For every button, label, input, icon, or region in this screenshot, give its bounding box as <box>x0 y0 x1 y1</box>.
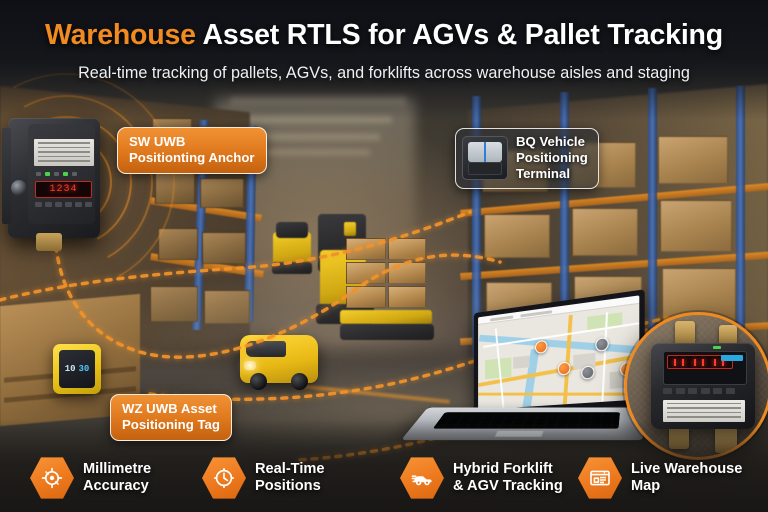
forklift-rear-cage <box>276 222 308 238</box>
feature-badge-bar: Millimetre Accuracy Real-Time Positions <box>0 450 768 506</box>
feature-hybrid-forklift-agv[interactable]: Hybrid Forklift & AGV Tracking <box>400 456 563 500</box>
callout-anchor-line1: SW UWB <box>129 134 255 150</box>
terminal-keypad[interactable] <box>663 388 735 394</box>
callout-asset-tag[interactable]: WZ UWB Asset Positioning Tag <box>110 394 232 441</box>
page-title: Warehouse Asset RTLS for AGVs & Pallet T… <box>0 19 768 52</box>
anchor-status-leds <box>36 172 77 176</box>
feature-label: Real-Time Positions <box>255 461 324 496</box>
feature-label: Live Warehouse Map <box>631 461 742 496</box>
laptop-screen-map[interactable] <box>478 295 639 410</box>
laptop-lid <box>474 289 645 415</box>
callout-vehicle-terminal[interactable]: BQ Vehicle Positioning Terminal <box>455 128 599 189</box>
anchor-label-plate <box>34 139 94 166</box>
pallet-crate <box>346 286 386 308</box>
tag-value-left: 10 <box>65 364 76 374</box>
agv-window <box>246 341 286 357</box>
agv-wheel <box>250 373 267 390</box>
callout-terminal-line3: Terminal <box>516 166 588 182</box>
pallet-crate <box>388 262 426 284</box>
terminal-power-led <box>713 346 721 349</box>
callout-terminal-line1: BQ Vehicle <box>516 134 588 150</box>
anchor-buttons[interactable] <box>35 202 92 207</box>
agv-headlight <box>244 361 256 370</box>
callout-tag-line1: WZ UWB Asset <box>122 401 220 417</box>
tag-value-right: 30 <box>79 364 90 374</box>
anchor-mount-bracket <box>2 128 11 224</box>
feature-real-time-positions[interactable]: Real-Time Positions <box>202 456 324 500</box>
tag-display: 10 30 <box>59 350 95 388</box>
forklift-beacon <box>344 222 356 236</box>
pallet-crate <box>346 238 386 260</box>
terminal-panel <box>663 351 747 385</box>
anchor-cable-gland <box>36 233 62 251</box>
callout-terminal-text: BQ Vehicle Positioning Terminal <box>516 134 588 182</box>
terminal-blue-indicator <box>721 355 743 361</box>
callout-tag-line2: Positioning Tag <box>122 417 220 433</box>
top-gradient-overlay <box>0 0 768 120</box>
callout-terminal-line2: Positioning <box>516 150 588 166</box>
forklift-vehicle-icon <box>400 456 444 500</box>
vehicle-terminal-thumb-icon <box>462 136 508 180</box>
uwb-positioning-anchor-device: 1234 <box>8 118 100 238</box>
agv-robot <box>240 335 318 383</box>
vehicle-terminal-device <box>651 343 755 429</box>
feature-label: Hybrid Forklift & AGV Tracking <box>453 461 563 496</box>
terminal-label-plate <box>663 400 745 422</box>
pallet-crate <box>388 238 426 260</box>
clock-icon <box>202 456 246 500</box>
map-building <box>513 356 529 369</box>
title-highlight: Warehouse <box>45 19 196 51</box>
pallet-crate <box>346 262 386 284</box>
feature-label: Millimetre Accuracy <box>83 461 151 496</box>
callout-anchor[interactable]: SW UWB Positionting Anchor <box>117 127 267 174</box>
anchor-sensor-lens <box>11 180 27 196</box>
promo-banner: 1234 10 30 <box>0 0 768 512</box>
feature-millimetre-accuracy[interactable]: Millimetre Accuracy <box>30 456 151 500</box>
forklift-rear-wheels <box>272 262 312 274</box>
thumb-screen <box>468 142 502 162</box>
uwb-asset-tag-device: 10 30 <box>53 344 101 394</box>
map-monitor-icon <box>578 456 622 500</box>
agv-wheel <box>291 373 308 390</box>
callout-anchor-line2: Positionting Anchor <box>129 150 255 166</box>
title-rest: Asset RTLS for AGVs & Pallet Tracking <box>196 19 723 51</box>
page-subtitle: Real-time tracking of pallets, AGVs, and… <box>0 64 768 83</box>
anchor-lcd-display: 1234 <box>35 181 92 198</box>
target-crosshair-icon <box>30 456 74 500</box>
thumb-keypad <box>468 162 502 175</box>
feature-live-warehouse-map[interactable]: Live Warehouse Map <box>578 456 742 500</box>
